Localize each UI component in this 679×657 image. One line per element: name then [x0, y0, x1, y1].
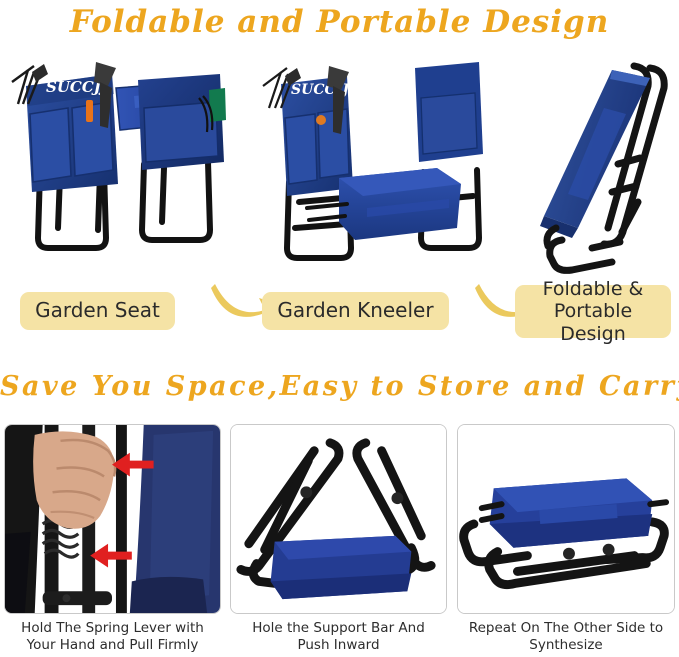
label-foldable-line1: Foldable & [529, 278, 657, 300]
step-caption-1: Hold The Spring Lever with Your Hand and… [4, 620, 221, 655]
garden-kneeler-illustration: SUCCJJ [243, 52, 483, 287]
label-foldable-portable: Foldable & Portable Design [515, 285, 671, 338]
garden-seat-illustration: SUCCJJ [4, 52, 226, 287]
step-caption-2-line2: Push Inward [230, 637, 447, 654]
hand-spring-lever-photo [5, 425, 220, 613]
step-caption-1-line2: Your Hand and Pull Firmly [4, 637, 221, 654]
step-caption-3-line1: Repeat On The Other Side to [457, 620, 675, 637]
folded-flat-photo [458, 425, 674, 613]
step-caption-1-line1: Hold The Spring Lever with [4, 620, 221, 637]
infographic-page: Foldable and Portable Design [0, 0, 679, 657]
product-garden-kneeler: SUCCJJ [243, 52, 483, 287]
step-caption-3-line2: Synthesize [457, 637, 675, 654]
step-photo-hand-spring-lever [4, 424, 221, 614]
step-photo-folded-flat [457, 424, 675, 614]
folded-product-illustration [500, 52, 675, 287]
label-foldable-line2: Portable Design [529, 300, 657, 345]
page-title-top: Foldable and Portable Design [0, 4, 679, 40]
product-folded [500, 52, 675, 287]
step-photo-support-bar [230, 424, 447, 614]
support-bar-photo [231, 425, 446, 613]
label-garden-kneeler: Garden Kneeler [262, 292, 449, 330]
step-caption-2: Hole the Support Bar And Push Inward [230, 620, 447, 655]
product-garden-seat: SUCCJJ [4, 52, 226, 287]
label-garden-seat: Garden Seat [20, 292, 175, 330]
product-showcase-row: SUCCJJ [0, 52, 679, 287]
step-caption-3: Repeat On The Other Side to Synthesize [457, 620, 675, 655]
page-title-middle: Save You Space,Easy to Store and Carry [0, 371, 679, 402]
step-caption-2-line1: Hole the Support Bar And [230, 620, 447, 637]
